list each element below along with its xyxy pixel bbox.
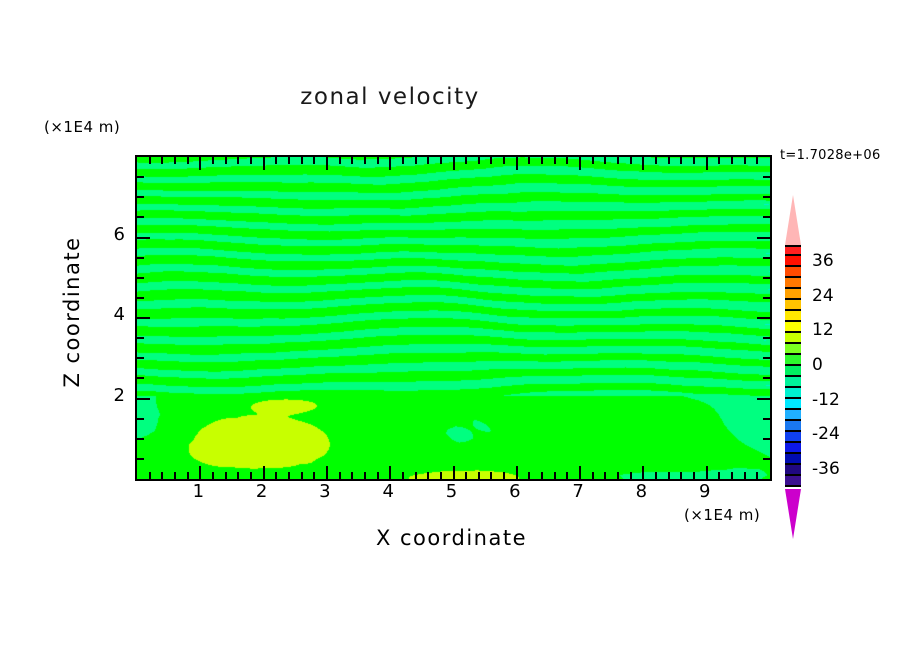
x-axis-minor-tick: [402, 472, 404, 479]
x-axis-top-major-tick: [579, 157, 581, 170]
y-axis-minor-tick: [137, 418, 144, 420]
x-axis-top-minor-tick: [402, 157, 404, 164]
colorbar-band: [785, 300, 801, 311]
x-axis-major-tick: [453, 466, 455, 479]
y-axis-unit-label: (×1E4 m): [44, 118, 120, 136]
x-axis-minor-tick: [465, 472, 467, 479]
y-axis-right-minor-tick: [763, 216, 770, 218]
x-axis-major-tick: [579, 466, 581, 479]
x-axis-top-minor-tick: [744, 157, 746, 164]
x-axis-minor-tick: [617, 472, 619, 479]
y-axis-title: Z coordinate: [60, 222, 84, 402]
colorbar-tick-label: -36: [812, 459, 840, 479]
x-axis-top-minor-tick: [250, 157, 252, 164]
colorbar-tick-label: 12: [812, 320, 834, 340]
x-tick-label: 6: [495, 481, 535, 502]
x-axis-top-minor-tick: [237, 157, 239, 164]
y-axis-minor-tick: [137, 458, 144, 460]
x-axis-minor-tick: [718, 472, 720, 479]
y-axis-right-minor-tick: [763, 196, 770, 198]
colorbar-band: [785, 421, 801, 432]
x-axis-top-major-tick: [199, 157, 201, 170]
x-axis-minor-tick: [427, 472, 429, 479]
x-axis-minor-tick: [440, 472, 442, 479]
x-axis-minor-tick: [351, 472, 353, 479]
colorbar-band: [785, 267, 801, 278]
y-tick-label: 6: [95, 224, 125, 245]
colorbar-band: [785, 245, 801, 256]
x-axis-major-tick: [199, 466, 201, 479]
y-axis-right-minor-tick: [763, 337, 770, 339]
x-axis-top-minor-tick: [592, 157, 594, 164]
x-axis-minor-tick: [212, 472, 214, 479]
x-axis-top-minor-tick: [364, 157, 366, 164]
x-axis-top-minor-tick: [541, 157, 543, 164]
y-axis-minor-tick: [137, 337, 144, 339]
x-axis-major-tick: [706, 466, 708, 479]
x-axis-minor-tick: [161, 472, 163, 479]
x-axis-minor-tick: [630, 472, 632, 479]
x-axis-minor-tick: [592, 472, 594, 479]
colorbar-band: [785, 454, 801, 465]
x-axis-minor-tick: [490, 472, 492, 479]
x-axis-top-minor-tick: [604, 157, 606, 164]
y-axis-minor-tick: [137, 438, 144, 440]
y-axis-right-minor-tick: [763, 297, 770, 299]
colorbar-band: [785, 443, 801, 454]
colorbar-tick-label: 36: [812, 251, 834, 271]
colorbar-band: [785, 410, 801, 421]
x-axis-minor-tick: [301, 472, 303, 479]
y-axis-minor-tick: [137, 257, 144, 259]
y-axis-right-minor-tick: [763, 277, 770, 279]
colorbar-tick-label: -12: [812, 390, 840, 410]
x-axis-top-minor-tick: [377, 157, 379, 164]
colorbar-tick-label: 24: [812, 286, 834, 306]
x-axis-minor-tick: [187, 472, 189, 479]
x-axis-minor-tick: [731, 472, 733, 479]
x-axis-minor-tick: [744, 472, 746, 479]
x-axis-top-minor-tick: [503, 157, 505, 164]
x-axis-minor-tick: [566, 472, 568, 479]
x-axis-minor-tick: [174, 472, 176, 479]
x-axis-minor-tick: [364, 472, 366, 479]
x-axis-minor-tick: [554, 472, 556, 479]
y-axis-major-tick: [137, 398, 150, 400]
x-axis-minor-tick: [250, 472, 252, 479]
y-axis-right-major-tick: [757, 317, 770, 319]
x-axis-top-minor-tick: [617, 157, 619, 164]
y-axis-right-minor-tick: [763, 257, 770, 259]
x-axis-minor-tick: [541, 472, 543, 479]
y-axis-minor-tick: [137, 176, 144, 178]
x-axis-top-minor-tick: [427, 157, 429, 164]
x-axis-top-minor-tick: [731, 157, 733, 164]
y-axis-right-minor-tick: [763, 418, 770, 420]
y-axis-right-minor-tick: [763, 458, 770, 460]
x-tick-label: 3: [305, 481, 345, 502]
x-tick-label: 7: [558, 481, 598, 502]
colorbar-band: [785, 289, 801, 300]
x-tick-label: 2: [242, 481, 282, 502]
x-axis-top-minor-tick: [655, 157, 657, 164]
x-axis-top-minor-tick: [756, 157, 758, 164]
x-axis-top-major-tick: [326, 157, 328, 170]
x-axis-top-minor-tick: [288, 157, 290, 164]
x-axis-top-minor-tick: [630, 157, 632, 164]
y-axis-right-minor-tick: [763, 176, 770, 178]
y-axis-right-minor-tick: [763, 357, 770, 359]
y-axis-right-major-tick: [757, 398, 770, 400]
y-axis-major-tick: [137, 317, 150, 319]
x-axis-top-minor-tick: [718, 157, 720, 164]
x-tick-label: 1: [178, 481, 218, 502]
x-axis-top-minor-tick: [680, 157, 682, 164]
x-axis-top-minor-tick: [149, 157, 151, 164]
colorbar-band: [785, 476, 801, 487]
x-axis-top-minor-tick: [212, 157, 214, 164]
x-axis-major-tick: [263, 466, 265, 479]
x-axis-minor-tick: [503, 472, 505, 479]
y-axis-right-minor-tick: [763, 377, 770, 379]
y-axis-minor-tick: [137, 357, 144, 359]
y-axis-minor-tick: [137, 277, 144, 279]
x-axis-major-tick: [326, 466, 328, 479]
x-axis-top-minor-tick: [275, 157, 277, 164]
x-axis-major-tick: [389, 466, 391, 479]
y-axis-major-tick: [137, 237, 150, 239]
x-axis-top-major-tick: [642, 157, 644, 170]
x-axis-top-minor-tick: [187, 157, 189, 164]
x-axis-major-tick: [642, 466, 644, 479]
x-axis-top-minor-tick: [351, 157, 353, 164]
x-axis-top-minor-tick: [161, 157, 163, 164]
x-axis-minor-tick: [478, 472, 480, 479]
x-axis-minor-tick: [756, 472, 758, 479]
x-axis-minor-tick: [339, 472, 341, 479]
colorbar-min-arrow: [785, 489, 801, 539]
x-axis-top-major-tick: [516, 157, 518, 170]
x-axis-top-minor-tick: [339, 157, 341, 164]
x-axis-top-minor-tick: [490, 157, 492, 164]
x-axis-minor-tick: [288, 472, 290, 479]
contour-plot-area[interactable]: [135, 155, 772, 481]
colorbar-band: [785, 432, 801, 443]
x-tick-label: 9: [685, 481, 725, 502]
colorbar-band: [785, 344, 801, 355]
x-axis-major-tick: [516, 466, 518, 479]
y-tick-label: 4: [95, 304, 125, 325]
x-axis-top-minor-tick: [415, 157, 417, 164]
x-axis-top-minor-tick: [465, 157, 467, 164]
x-axis-minor-tick: [668, 472, 670, 479]
x-axis-top-minor-tick: [668, 157, 670, 164]
contour-field: [137, 157, 770, 479]
colorbar-band: [785, 465, 801, 476]
x-axis-minor-tick: [377, 472, 379, 479]
colorbar-band: [785, 377, 801, 388]
x-axis-top-major-tick: [453, 157, 455, 170]
x-axis-top-minor-tick: [313, 157, 315, 164]
page-title: zonal velocity: [0, 84, 780, 110]
x-axis-minor-tick: [313, 472, 315, 479]
colorbar-band: [785, 333, 801, 344]
x-axis-minor-tick: [680, 472, 682, 479]
y-axis-minor-tick: [137, 377, 144, 379]
colorbar-band: [785, 322, 801, 333]
x-axis-minor-tick: [693, 472, 695, 479]
x-axis-minor-tick: [415, 472, 417, 479]
x-axis-minor-tick: [237, 472, 239, 479]
x-axis-top-minor-tick: [225, 157, 227, 164]
x-axis-minor-tick: [225, 472, 227, 479]
colorbar-band: [785, 355, 801, 366]
y-axis-minor-tick: [137, 216, 144, 218]
x-axis-top-major-tick: [706, 157, 708, 170]
colorbar-tick-label: -24: [812, 424, 840, 444]
x-axis-top-minor-tick: [554, 157, 556, 164]
x-axis-minor-tick: [604, 472, 606, 479]
colorbar-tick-label: 0: [812, 355, 823, 375]
x-axis-minor-tick: [149, 472, 151, 479]
y-tick-label: 2: [95, 385, 125, 406]
colorbar-band: [785, 399, 801, 410]
x-tick-label: 8: [621, 481, 661, 502]
colorbar-max-arrow: [785, 195, 801, 245]
y-axis-right-major-tick: [757, 237, 770, 239]
x-axis-unit-label: (×1E4 m): [684, 506, 760, 524]
x-axis-top-minor-tick: [478, 157, 480, 164]
x-axis-top-minor-tick: [301, 157, 303, 164]
x-tick-label: 4: [368, 481, 408, 502]
x-axis-minor-tick: [655, 472, 657, 479]
y-axis-minor-tick: [137, 196, 144, 198]
x-axis-top-minor-tick: [566, 157, 568, 164]
y-axis-minor-tick: [137, 297, 144, 299]
x-axis-top-major-tick: [389, 157, 391, 170]
x-tick-label: 5: [432, 481, 472, 502]
x-axis-minor-tick: [528, 472, 530, 479]
x-axis-minor-tick: [275, 472, 277, 479]
x-axis-top-major-tick: [263, 157, 265, 170]
colorbar[interactable]: [785, 245, 801, 487]
colorbar-band: [785, 256, 801, 267]
colorbar-band: [785, 366, 801, 377]
x-axis-top-minor-tick: [693, 157, 695, 164]
x-axis-top-minor-tick: [174, 157, 176, 164]
colorbar-band: [785, 311, 801, 322]
timestamp-label: t=1.7028e+06: [780, 148, 881, 163]
colorbar-band: [785, 388, 801, 399]
x-axis-title: X coordinate: [135, 526, 768, 550]
colorbar-band: [785, 278, 801, 289]
y-axis-right-minor-tick: [763, 438, 770, 440]
x-axis-top-minor-tick: [528, 157, 530, 164]
x-axis-top-minor-tick: [440, 157, 442, 164]
